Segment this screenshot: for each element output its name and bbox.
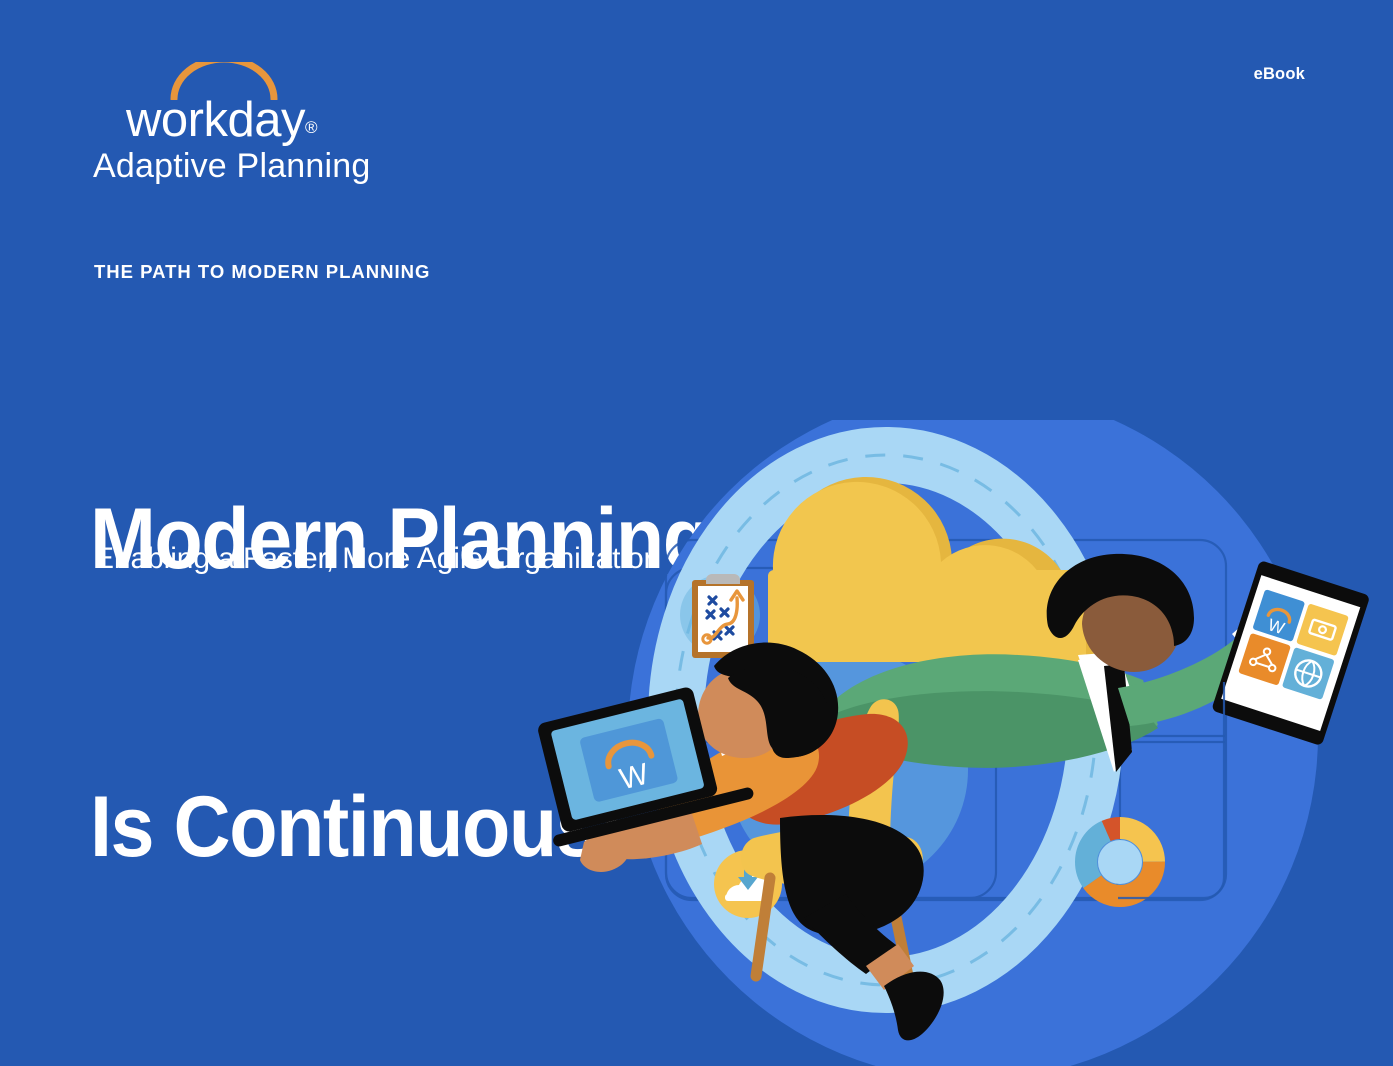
registered-trademark-icon: ®	[305, 118, 318, 137]
ebook-cover-page: workday® Adaptive Planning eBook THE PAT…	[0, 0, 1393, 1066]
cover-illustration: W W	[518, 420, 1393, 1066]
donut-chart-icon	[1078, 820, 1162, 904]
document-type-badge: eBook	[1254, 65, 1305, 84]
eyebrow-series-label: THE PATH TO MODERN PLANNING	[94, 261, 430, 283]
workday-wordmark-text: workday	[126, 93, 305, 147]
adaptive-planning-subbrand: Adaptive Planning	[93, 145, 371, 187]
